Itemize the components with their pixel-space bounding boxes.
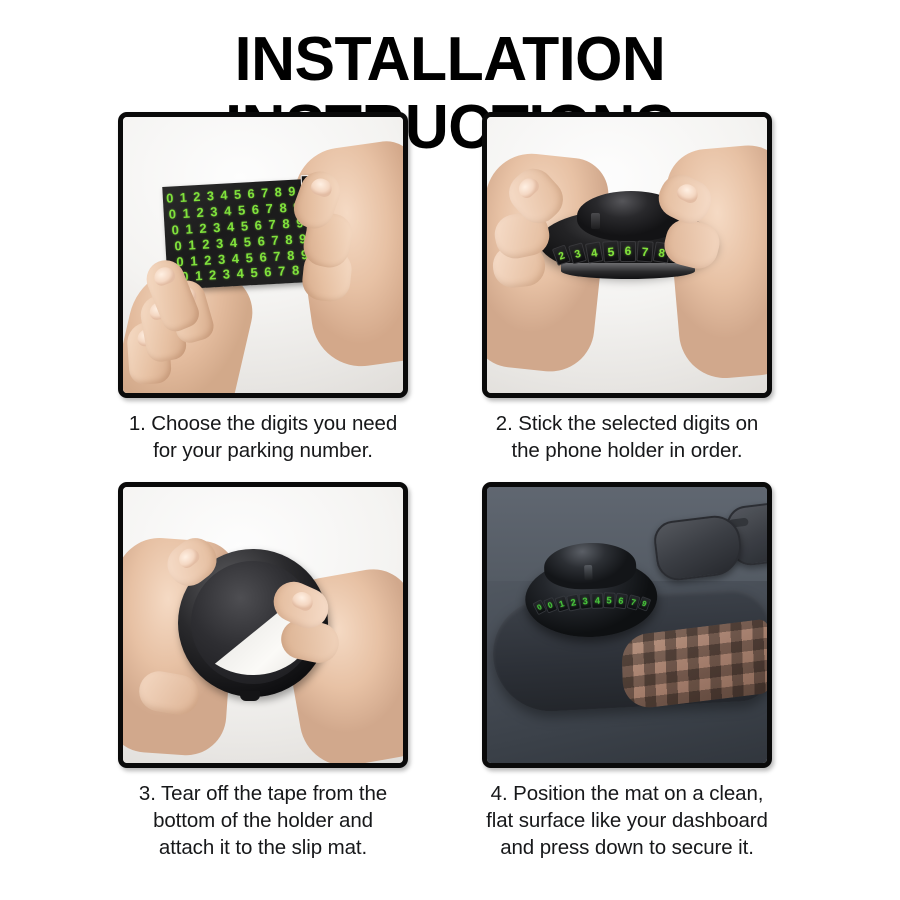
caption-line: the phone holder in order. [482,437,772,464]
digit-ring: 0 0 1 2 3 4 5 6 7 9 [529,581,654,621]
step-1: 0 1 2 3 4 5 6 7 8 9 0 [118,112,408,464]
holder-tab [591,213,600,229]
rim-digit: 3 [579,593,592,610]
steps-grid: 0 1 2 3 4 5 6 7 8 9 0 [0,0,900,900]
holder-tab [584,565,593,580]
rim-digit: 4 [585,241,603,263]
caption-line: 3. Tear off the tape from the [113,780,413,807]
fingernail [151,264,177,288]
installation-instructions-page: INSTALLATION INSTRUCTIONS 0 1 2 3 4 [0,0,900,900]
caption-line: 2. Stick the selected digits on [482,410,772,437]
caption-line: flat surface like your dashboard [467,807,787,834]
step-3-caption: 3. Tear off the tape from the bottom of … [113,780,413,861]
caption-line: 1. Choose the digits you need [118,410,408,437]
sunglasses [651,501,767,589]
caption-line: bottom of the holder and [113,807,413,834]
step-4-caption: 4. Position the mat on a clean, flat sur… [467,780,787,861]
caption-line: for your parking number. [118,437,408,464]
rim-digit: 5 [602,240,620,262]
step-1-caption: 1. Choose the digits you need for your p… [118,410,408,464]
rim-digit: 3 [568,242,587,264]
step-1-photo: 0 1 2 3 4 5 6 7 8 9 0 [118,112,408,398]
step-2-caption: 2. Stick the selected digits on the phon… [482,410,772,464]
sunglasses-lens-left [652,513,745,583]
fingernail [675,181,701,205]
fingernail [515,174,542,201]
step-4-photo: 0 0 1 2 3 4 5 6 7 9 [482,482,772,768]
rim-digit: 6 [620,241,636,262]
step-3: 3. Tear off the tape from the bottom of … [118,482,408,861]
caption-line: 4. Position the mat on a clean, [467,780,787,807]
fingernail [175,545,202,571]
step-2-photo: 2 3 4 5 6 7 8 9 9 [482,112,772,398]
step-2: 2 3 4 5 6 7 8 9 9 [482,112,772,464]
fingernail [309,176,335,199]
rim-digit: 7 [636,240,653,262]
caption-line: and press down to secure it. [467,834,787,861]
rim-digit: 4 [591,593,603,609]
step-3-photo [118,482,408,768]
holder-notch [240,691,260,701]
installed-phone-holder: 0 0 1 2 3 4 5 6 7 9 [523,541,658,642]
caption-line: attach it to the slip mat. [113,834,413,861]
fingernail [290,589,316,613]
digit-sticker-sheet: 0 1 2 3 4 5 6 7 8 9 0 [162,179,310,290]
step-4: 0 0 1 2 3 4 5 6 7 9 [482,482,772,861]
